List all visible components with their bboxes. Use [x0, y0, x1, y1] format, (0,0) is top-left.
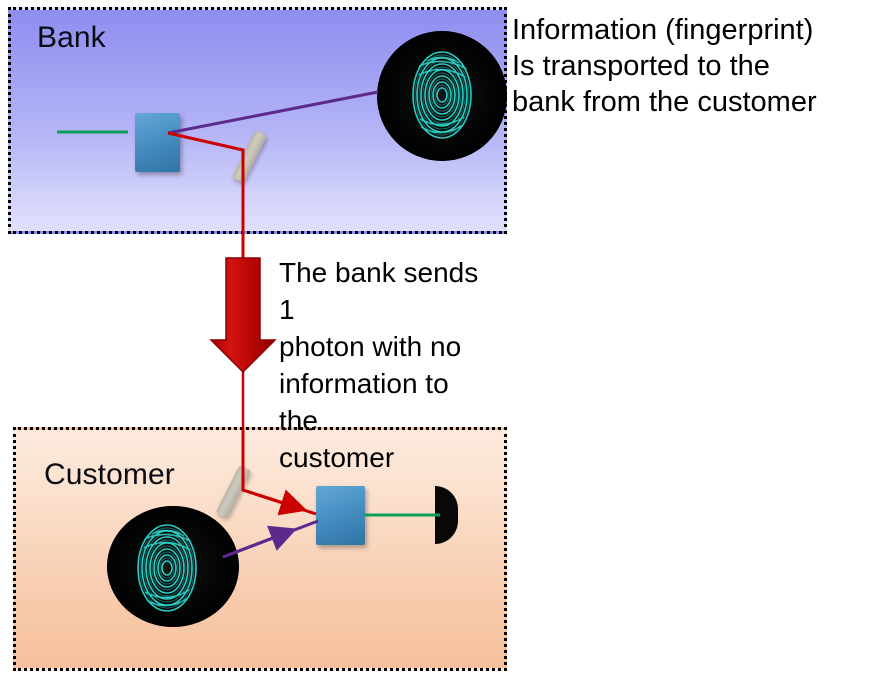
bank-mirror: [232, 130, 268, 183]
customer-fingerprint-icon: [107, 506, 239, 627]
photon-block-arrow: [211, 258, 275, 372]
customer-panel-label: Customer: [44, 460, 175, 490]
photon-sent-callout: The bank sends 1 photon with no informat…: [279, 254, 489, 476]
bank-fingerprint-svg: [377, 31, 507, 161]
customer-beam-splitter: [316, 486, 365, 545]
diagram-canvas: Bank: [0, 0, 870, 686]
bank-beam-splitter: [135, 113, 180, 172]
bank-information-callout: Information (fingerprint) Is transported…: [512, 12, 868, 120]
bank-fingerprint-icon: [377, 31, 507, 161]
customer-fingerprint-svg: [107, 506, 239, 627]
bank-panel-label: Bank: [37, 23, 106, 53]
bank-panel: Bank: [8, 7, 507, 234]
